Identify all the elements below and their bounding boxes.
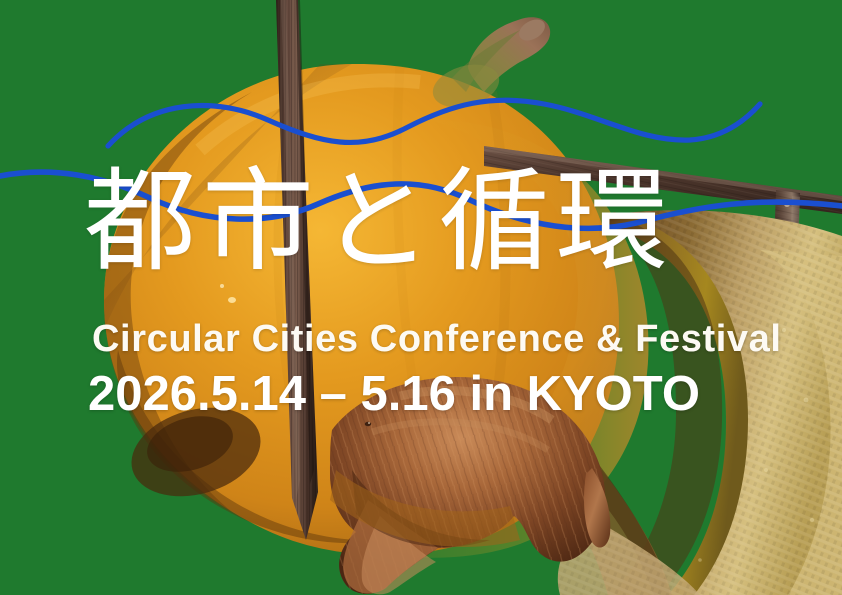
poster-canvas: 都市と循環 Circular Cities Conference & Festi… (0, 0, 842, 595)
event-date-location: 2026.5.14 – 5.16 in KYOTO (88, 366, 700, 422)
event-subtitle: Circular Cities Conference & Festival (92, 318, 782, 361)
page-title: 都市と循環 (84, 166, 774, 278)
artwork-layer (0, 0, 842, 595)
